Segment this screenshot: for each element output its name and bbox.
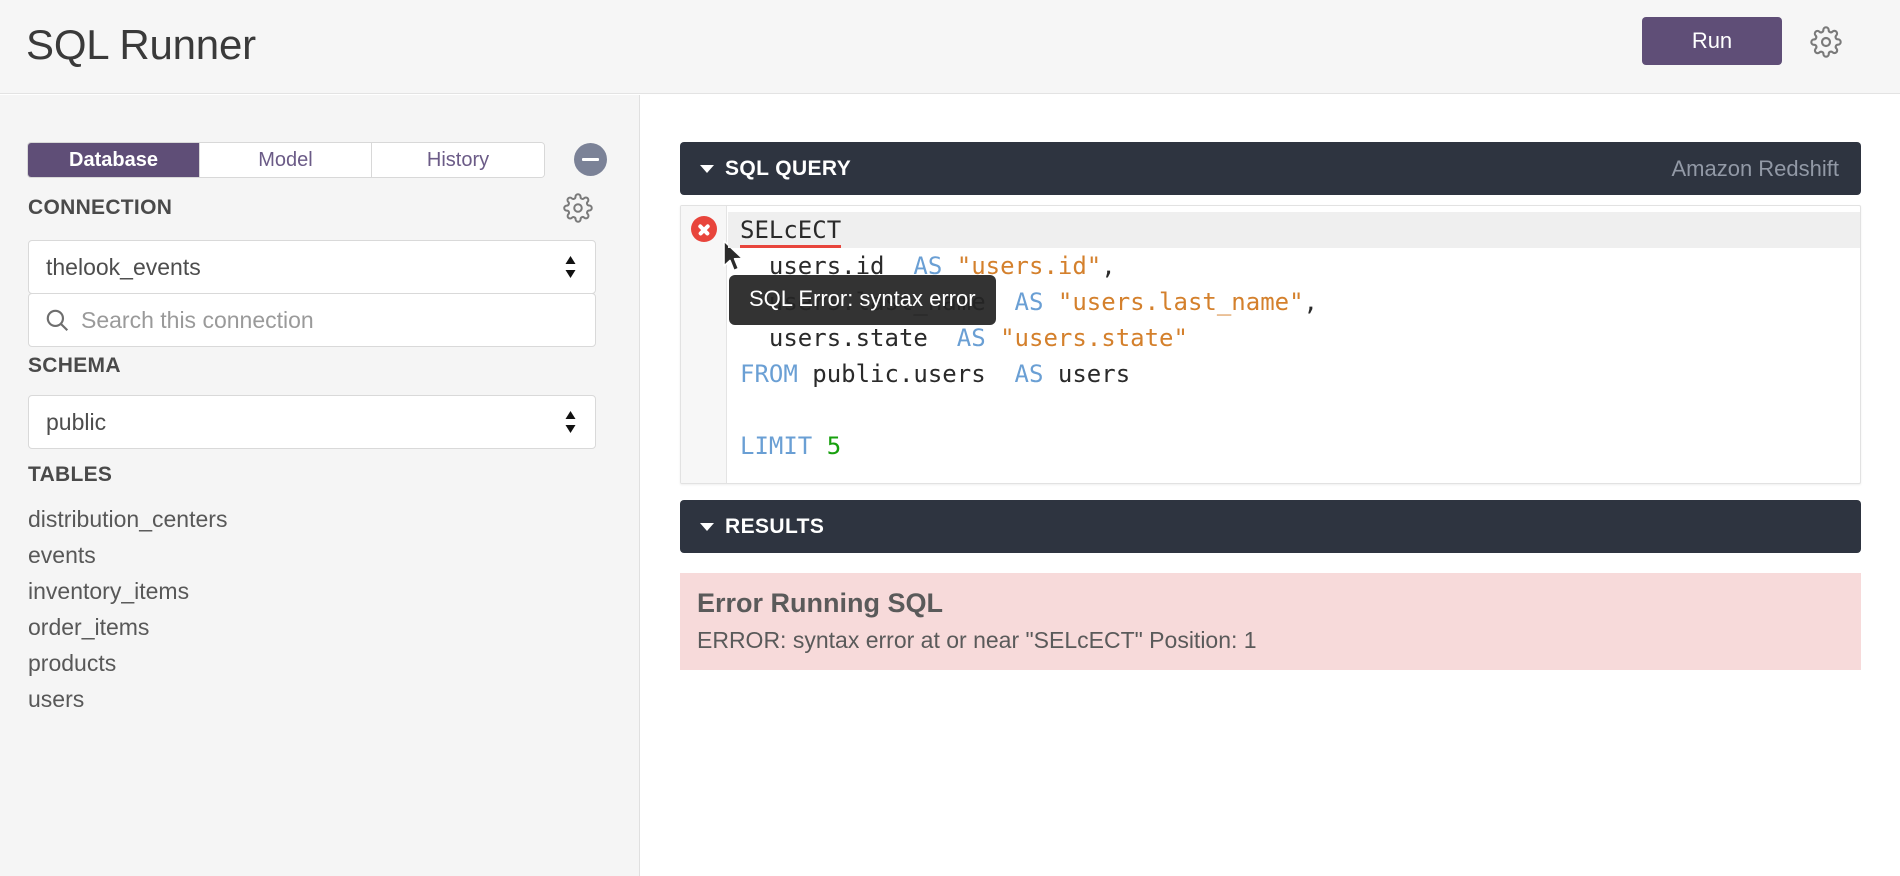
code-token xyxy=(1043,288,1057,316)
run-button[interactable]: Run xyxy=(1642,17,1782,65)
code-line: SELcECT xyxy=(728,212,1860,248)
tab-model[interactable]: Model xyxy=(200,143,372,177)
error-circle-x-icon[interactable] xyxy=(691,216,717,242)
page-title: SQL Runner xyxy=(26,17,256,73)
connection-select[interactable]: thelook_events xyxy=(28,240,596,294)
sql-error-tooltip: SQL Error: syntax error xyxy=(729,275,996,325)
code-token: FROM xyxy=(740,360,798,388)
main-content: SQL QUERY Amazon Redshift SELcECT users.… xyxy=(641,95,1900,876)
connection-gear-icon[interactable] xyxy=(563,193,593,223)
sql-runner-app: SQL Runner Run Database Model History CO… xyxy=(0,0,1900,876)
sort-arrows-icon xyxy=(564,255,577,279)
code-token: users xyxy=(1043,360,1130,388)
code-token: AS xyxy=(957,324,986,352)
code-token: AS xyxy=(1015,288,1044,316)
sql-editor[interactable]: SELcECT users.id AS "users.id", users.la… xyxy=(680,205,1861,484)
connection-search-box[interactable] xyxy=(28,293,596,347)
sql-query-panel-header[interactable]: SQL QUERY Amazon Redshift xyxy=(680,142,1861,195)
code-token xyxy=(986,324,1000,352)
error-detail-message: ERROR: syntax error at or near "SELcECT"… xyxy=(697,625,1257,655)
sql-code-content[interactable]: SELcECT users.id AS "users.id", users.la… xyxy=(728,206,1860,483)
sidebar-tabs: Database Model History xyxy=(27,142,545,178)
sql-query-panel-title: SQL QUERY xyxy=(725,142,851,195)
schema-section-label: SCHEMA xyxy=(28,354,121,378)
code-token: , xyxy=(1304,288,1318,316)
sidebar: Database Model History CONNECTION theloo… xyxy=(0,95,640,876)
code-token xyxy=(812,432,826,460)
connection-select-value: thelook_events xyxy=(46,241,201,293)
list-item[interactable]: distribution_centers xyxy=(28,501,608,537)
code-token: 5 xyxy=(827,432,841,460)
tab-database[interactable]: Database xyxy=(28,143,200,177)
connection-section-label: CONNECTION xyxy=(28,196,172,220)
code-token: LIMIT xyxy=(740,432,812,460)
search-icon xyxy=(44,307,70,333)
code-token: AS xyxy=(1015,360,1044,388)
code-token: public.users xyxy=(798,360,1015,388)
editor-gutter xyxy=(681,206,727,483)
results-panel-header[interactable]: RESULTS xyxy=(680,500,1861,553)
app-header: SQL Runner Run xyxy=(0,0,1900,94)
tables-list: distribution_centers events inventory_it… xyxy=(28,501,608,717)
list-item[interactable]: users xyxy=(28,681,608,717)
minus-circle-icon[interactable] xyxy=(574,143,607,176)
code-token: users.state xyxy=(740,324,957,352)
tab-history[interactable]: History xyxy=(372,143,544,177)
schema-select-value: public xyxy=(46,396,106,448)
settings-gear-icon[interactable] xyxy=(1810,26,1842,58)
code-token: "users.last_name" xyxy=(1058,288,1304,316)
code-line: FROM public.users AS users xyxy=(740,356,1860,392)
caret-down-icon[interactable] xyxy=(700,523,714,531)
sort-arrows-icon xyxy=(564,410,577,434)
code-token: , xyxy=(1101,252,1115,280)
schema-select[interactable]: public xyxy=(28,395,596,449)
dialect-label: Amazon Redshift xyxy=(1671,142,1839,195)
code-line xyxy=(740,392,1860,428)
code-line: users.state AS "users.state" xyxy=(740,320,1860,356)
list-item[interactable]: events xyxy=(28,537,608,573)
search-input[interactable] xyxy=(81,294,581,346)
error-title: Error Running SQL xyxy=(697,586,943,620)
caret-down-icon[interactable] xyxy=(700,165,714,173)
code-token xyxy=(740,396,754,424)
code-token: "users.state" xyxy=(1000,324,1188,352)
error-running-sql-box: Error Running SQL ERROR: syntax error at… xyxy=(680,573,1861,670)
list-item[interactable]: products xyxy=(28,645,608,681)
list-item[interactable]: inventory_items xyxy=(28,573,608,609)
list-item[interactable]: order_items xyxy=(28,609,608,645)
results-panel-title: RESULTS xyxy=(725,500,824,553)
code-line: LIMIT 5 xyxy=(740,428,1860,464)
code-token: SELcECT xyxy=(740,216,841,248)
tables-section-label: TABLES xyxy=(28,463,112,487)
